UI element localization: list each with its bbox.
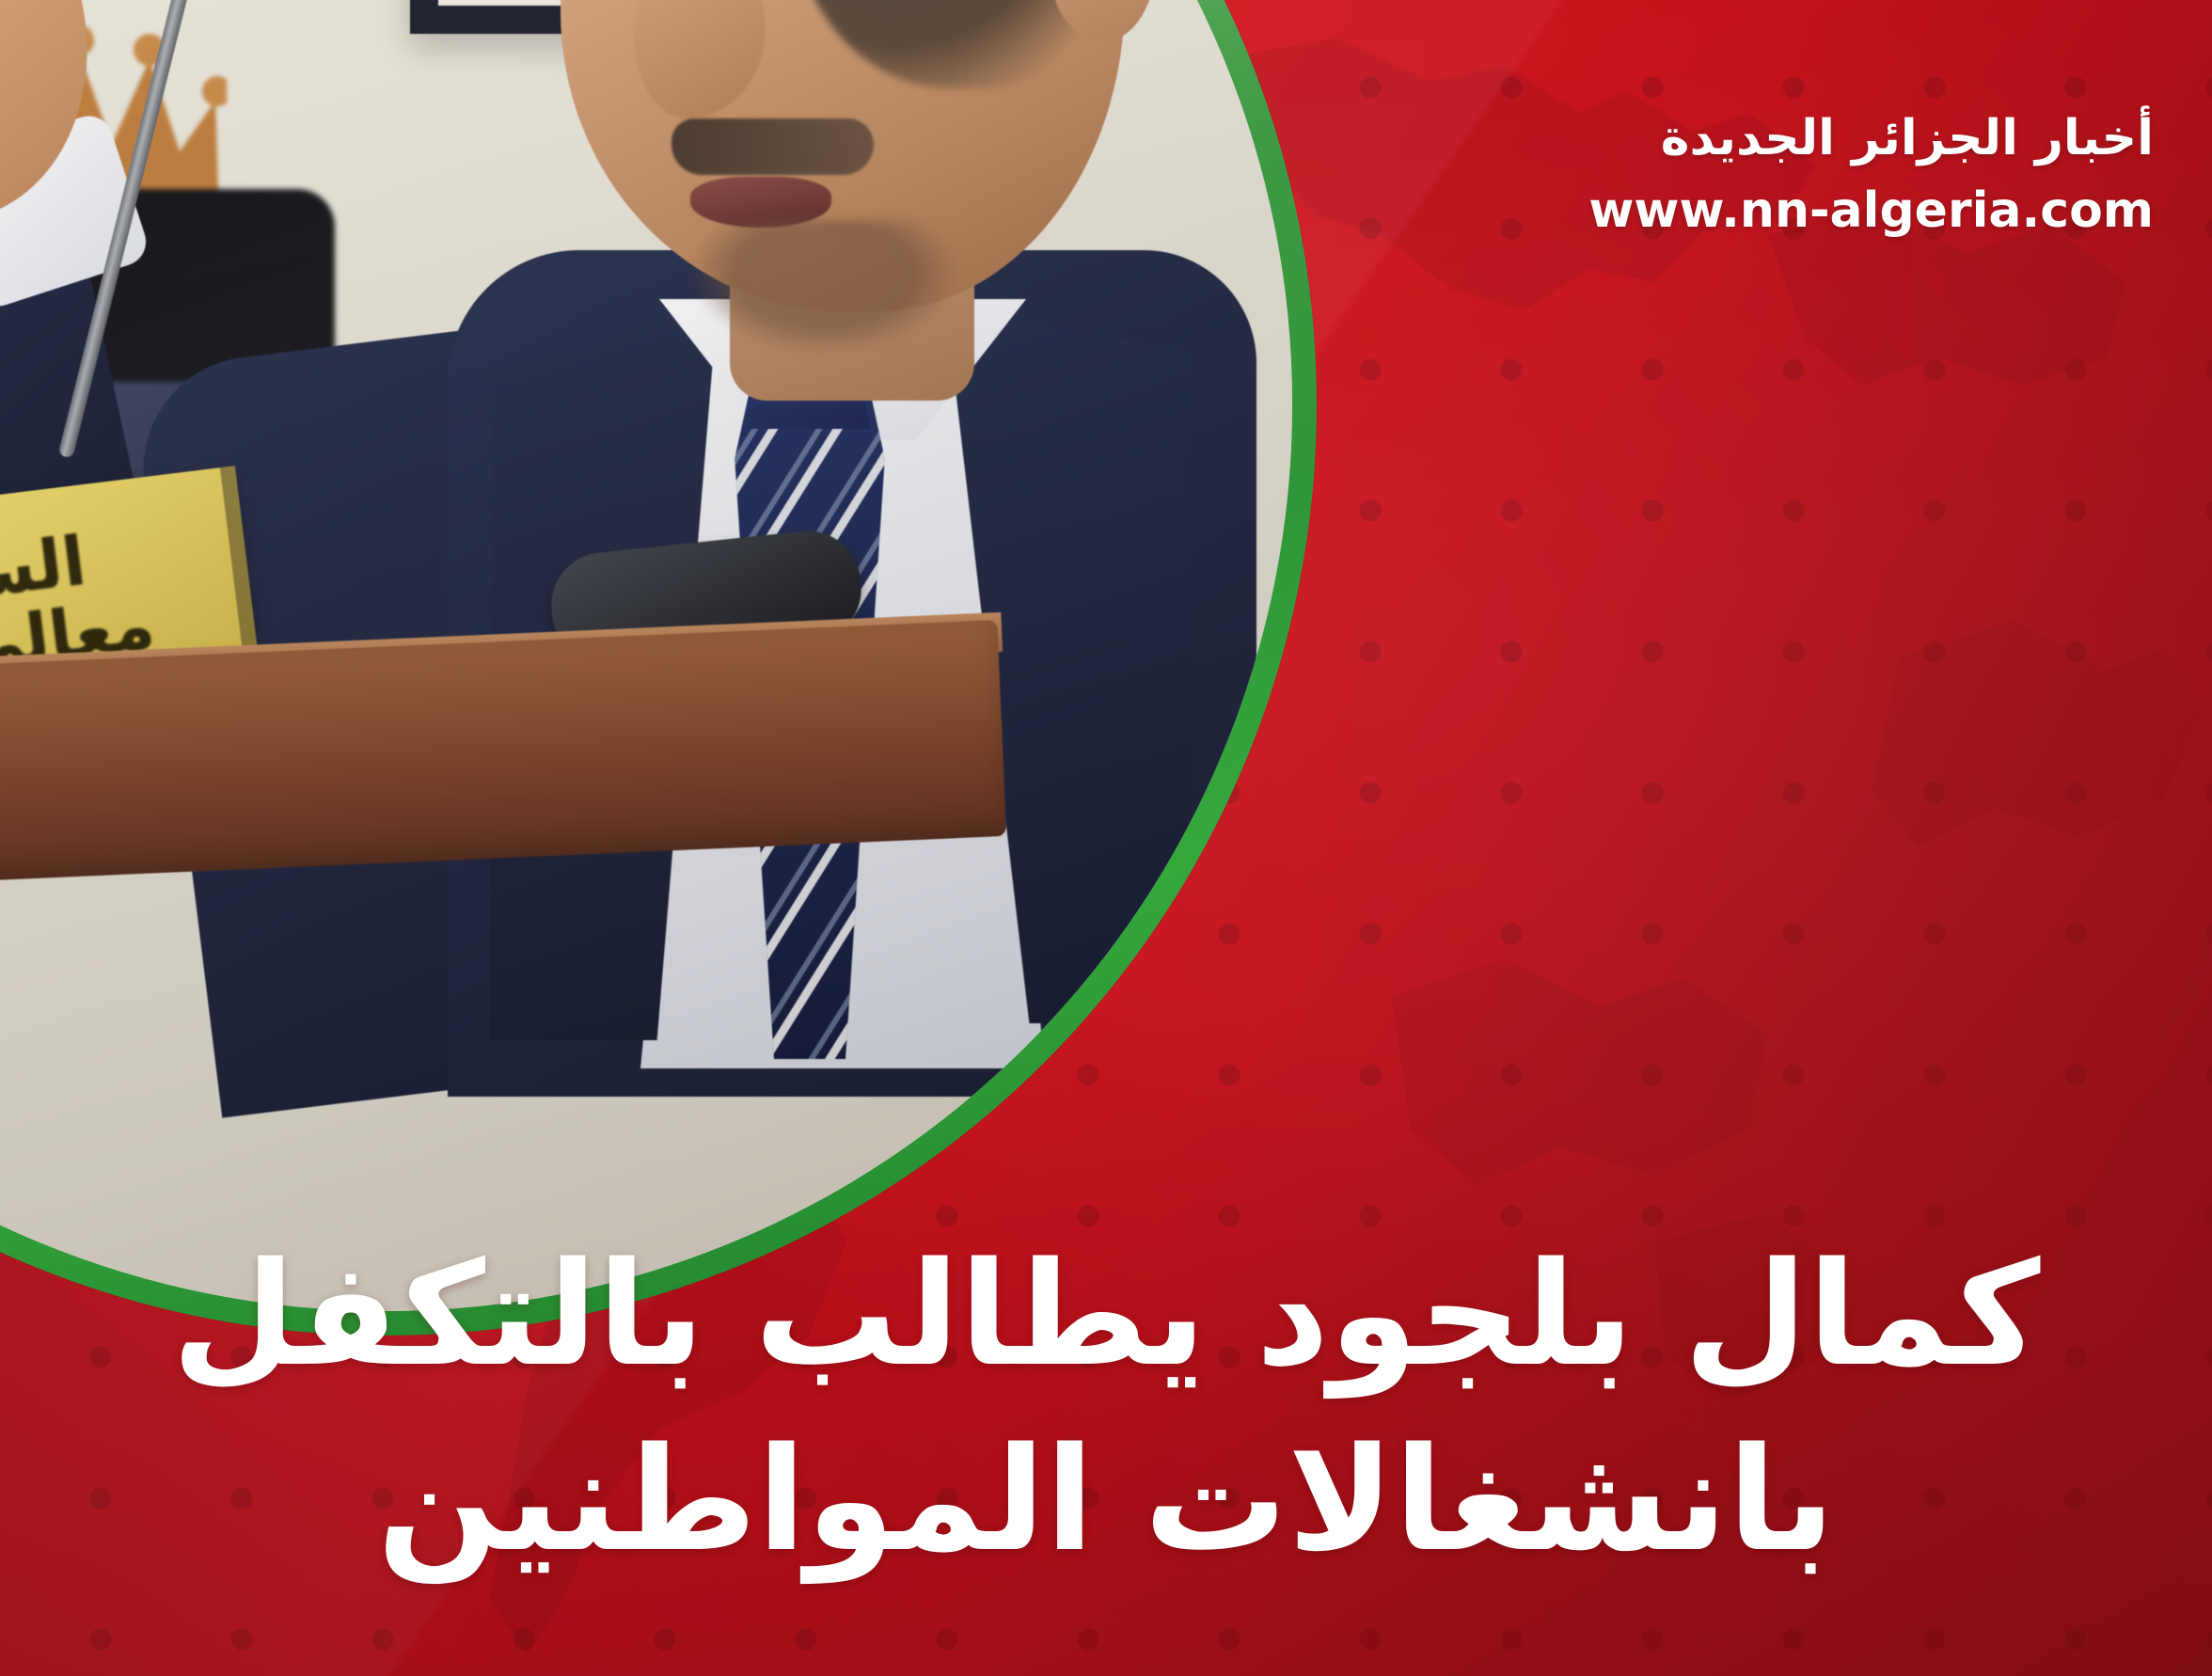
headline-line-2: بانشغالات المواطنين [60, 1407, 2152, 1593]
news-poster: السيد معالي ال أخبار الجزائر الجديدة www… [0, 0, 2212, 1676]
headline-line-1: كمال بلجود يطالب بالتكفل [60, 1222, 2152, 1408]
brand-website-url[interactable]: www.nn-algeria.com [1588, 184, 2154, 238]
brand-block: أخبار الجزائر الجديدة www.nn-algeria.com [1588, 111, 2154, 238]
brand-name: أخبار الجزائر الجديدة [1588, 111, 2154, 167]
photo-scene: السيد معالي ال [0, 0, 1292, 1311]
photo-circle-ring: السيد معالي ال [0, 0, 1317, 1336]
headline-block: كمال بلجود يطالب بالتكفل بانشغالات الموا… [0, 1222, 2212, 1593]
photo-color-tint [0, 0, 1292, 1311]
photo-circle: السيد معالي ال [0, 0, 1292, 1311]
